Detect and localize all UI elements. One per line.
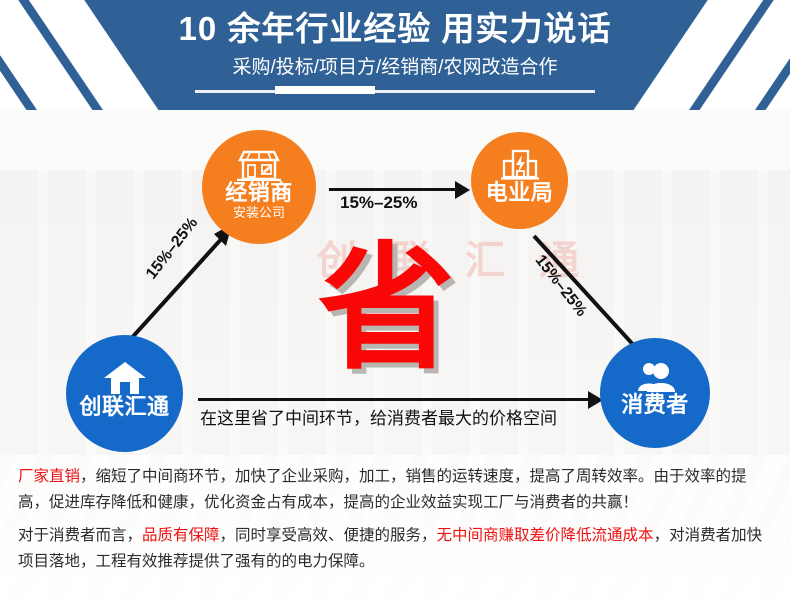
node-dealer-subtitle: 安装公司 — [202, 205, 316, 221]
infographic-page: 10 余年行业经验 用实力说话 采购/投标/项目方/经销商/农网改造合作 创 联… — [0, 0, 790, 602]
node-consumer[interactable]: 消费者 — [600, 338, 710, 448]
header-banner: 10 余年行业经验 用实力说话 采购/投标/项目方/经销商/农网改造合作 — [0, 0, 790, 110]
footer-paragraph-1-run-1: ，缩短了中间商环节，加快了企业采购，加工，销售的运转速度，提高了周转效率。由于效… — [18, 468, 747, 511]
center-save-character: 省 — [318, 241, 455, 378]
shop-icon — [236, 149, 282, 181]
footer-paragraph-2: 对于消费者而言，品质有保障，同时享受高效、便捷的服务，无中间商赚取差价降低流通成… — [18, 523, 774, 575]
arrow-company-to-consumer-label: 在这里省了中间环节，给消费者最大的价格空间 — [200, 404, 557, 429]
footer-description: 厂家直销，缩短了中间商环节，加快了企业采购，加工，销售的运转速度，提高了周转效率… — [0, 455, 790, 602]
header-subtitle: 采购/投标/项目方/经销商/农网改造合作 — [0, 48, 790, 79]
background-sky — [0, 110, 790, 170]
node-power-bureau-title: 电业局 — [471, 181, 568, 204]
arrow-dealer-to-bureau-line — [329, 188, 457, 191]
arrow-company-to-consumer-line — [198, 398, 591, 401]
arrow-dealer-to-bureau-label: 15%–25% — [340, 193, 418, 213]
home-icon — [103, 361, 147, 395]
node-dealer-title: 经销商 — [202, 181, 316, 204]
node-company-title: 创联汇通 — [66, 395, 183, 418]
footer-paragraph-1-run-0: 厂家直销 — [18, 468, 80, 485]
power-building-icon — [500, 149, 540, 181]
header-title: 10 余年行业经验 用实力说话 — [0, 0, 790, 48]
footer-paragraph-2-run-0: 对于消费者而言， — [18, 527, 142, 544]
node-consumer-title: 消费者 — [600, 393, 710, 416]
footer-paragraph-2-run-2: ，同时享受高效、便捷的服务， — [220, 527, 437, 544]
footer-paragraph-2-run-3: 无中间商赚取差价降低流通成本 — [437, 527, 654, 544]
flow-diagram: 创 联 汇 通 省 15%–25% 在这里省了中间环节，给消费者最大的价格空间 … — [0, 110, 790, 455]
header-divider-line — [195, 90, 595, 93]
footer-paragraph-2-run-1: 品质有保障 — [142, 527, 220, 544]
footer-paragraph-1: 厂家直销，缩短了中间商环节，加快了企业采购，加工，销售的运转速度，提高了周转效率… — [18, 464, 774, 516]
header-divider-center-bar — [275, 86, 375, 94]
node-dealer[interactable]: 经销商 安装公司 — [202, 130, 316, 244]
node-power-bureau[interactable]: 电业局 — [471, 132, 568, 229]
arrow-dealer-to-bureau-head — [455, 181, 470, 199]
users-icon — [633, 361, 677, 393]
header-text-block: 10 余年行业经验 用实力说话 采购/投标/项目方/经销商/农网改造合作 — [0, 0, 790, 110]
node-company[interactable]: 创联汇通 — [66, 335, 183, 452]
watermark-char-3: 汇 — [465, 228, 505, 286]
